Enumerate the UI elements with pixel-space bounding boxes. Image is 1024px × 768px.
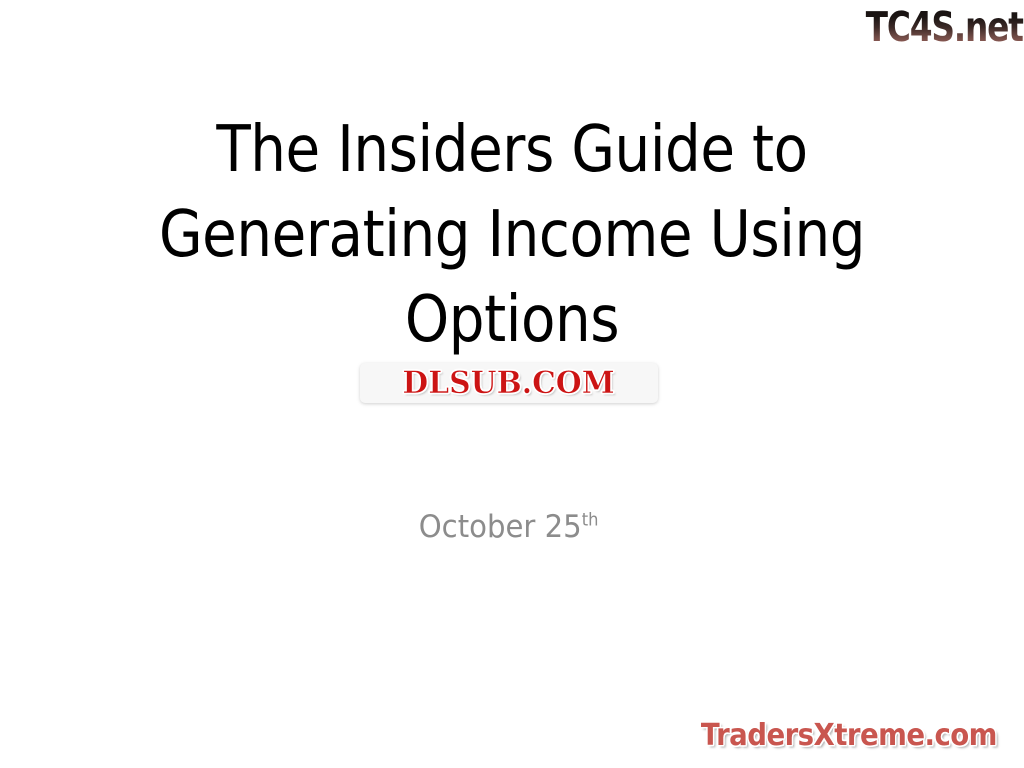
slide-subtitle-ordinal-suffix: th xyxy=(582,511,599,531)
watermark-dlsub-text: DLSUB.COM xyxy=(403,368,615,399)
slide-title-line-2: Generating Income Using xyxy=(61,193,962,278)
slide-title-line-3: Options xyxy=(61,278,962,363)
watermark-tc4s: TC4S.net xyxy=(828,2,1024,52)
watermark-tradersxtreme: TradersXtreme.com xyxy=(682,714,1016,758)
slide-title: The Insiders Guide to Generating Income … xyxy=(0,108,1024,363)
watermark-tradersxtreme-text: TradersXtreme.com xyxy=(701,721,997,751)
slide-title-line-1: The Insiders Guide to xyxy=(61,108,962,193)
slide-subtitle-date-text: October 25 xyxy=(419,509,582,545)
slide-subtitle-inner: October 25th xyxy=(419,505,599,549)
watermark-tc4s-text: TC4S.net xyxy=(865,7,1024,48)
watermark-dlsub: DLSUB.COM xyxy=(360,363,658,403)
slide-subtitle-date: October 25th xyxy=(0,505,1024,549)
presentation-slide: TC4S.net The Insiders Guide to Generatin… xyxy=(0,0,1024,768)
